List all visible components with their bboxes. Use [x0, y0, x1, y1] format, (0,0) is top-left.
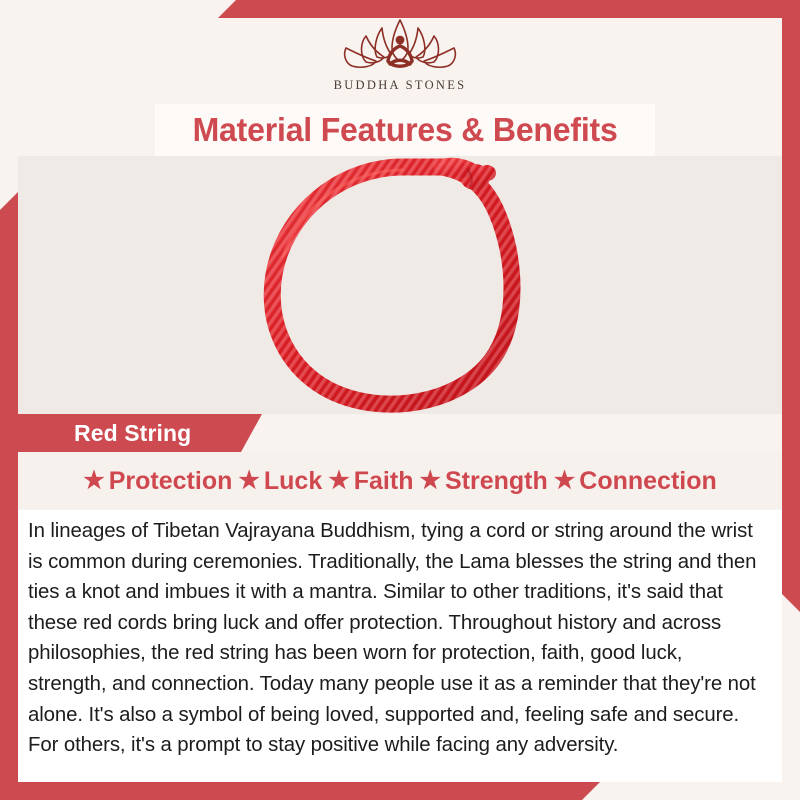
decor-band-bottom — [0, 782, 600, 800]
product-label: Red String — [74, 420, 191, 447]
page-title: Material Features & Benefits — [192, 111, 617, 149]
description-text: In lineages of Tibetan Vajrayana Buddhis… — [28, 516, 764, 761]
brand-header: BUDDHA STONES — [0, 0, 800, 105]
benefits-row: ★ Protection ★ Luck ★ Faith ★ Strength ★… — [18, 452, 782, 510]
benefit-item-strength: ★ Strength — [419, 467, 547, 496]
benefit-label: Strength — [445, 467, 548, 496]
description-block: In lineages of Tibetan Vajrayana Buddhis… — [18, 510, 782, 782]
star-icon: ★ — [328, 469, 350, 493]
product-photo — [18, 156, 782, 414]
benefit-item-luck: ★ Luck — [238, 467, 322, 496]
red-braided-string-bracelet-image — [235, 156, 565, 414]
benefit-label: Connection — [579, 467, 717, 496]
benefit-label: Protection — [109, 467, 233, 496]
lotus-meditation-figure-icon — [326, 14, 474, 76]
benefit-label: Faith — [354, 467, 414, 496]
benefit-label: Luck — [264, 467, 322, 496]
benefit-item-protection: ★ Protection — [83, 467, 232, 496]
star-icon: ★ — [419, 469, 441, 493]
brand-name: BUDDHA STONES — [334, 78, 467, 93]
infographic-poster: BUDDHA STONES Material Features & Benefi… — [0, 0, 800, 800]
title-banner: Material Features & Benefits — [155, 104, 655, 156]
benefit-item-faith: ★ Faith — [328, 467, 413, 496]
decor-band-left — [0, 192, 18, 782]
star-icon: ★ — [554, 469, 576, 493]
benefit-item-connection: ★ Connection — [554, 467, 717, 496]
star-icon: ★ — [83, 469, 105, 493]
star-icon: ★ — [238, 469, 260, 493]
product-label-ribbon: Red String — [18, 414, 262, 452]
